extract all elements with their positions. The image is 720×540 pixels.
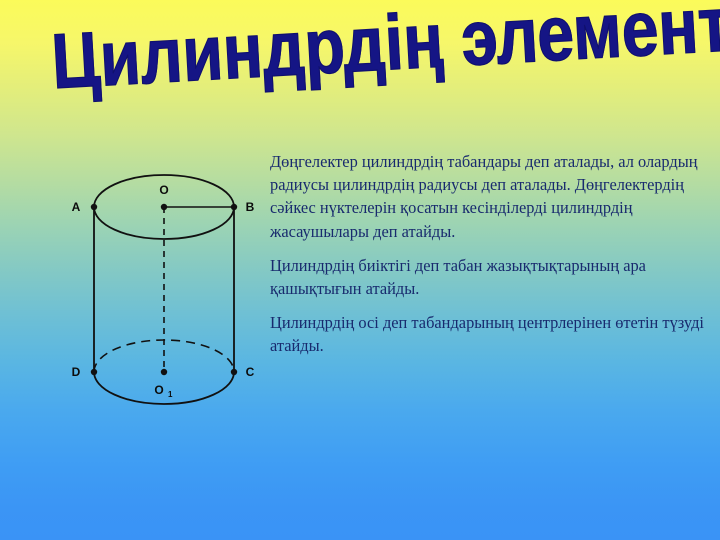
body-paragraph-1: Дөңгелектер цилиндрдің табандары деп ата…: [270, 150, 708, 243]
body-text-block: Дөңгелектер цилиндрдің табандары деп ата…: [270, 150, 708, 358]
page-title: Цилиндрдің элементтері: [49, 0, 673, 108]
point-d: [91, 369, 97, 375]
label-d: D: [72, 365, 81, 379]
label-b: B: [246, 200, 255, 214]
slide-canvas: Цилиндрдің элементтері: [0, 0, 720, 540]
label-o: O: [159, 183, 168, 197]
body-paragraph-2: Цилиндрдің биіктігі деп табан жазықтықта…: [270, 254, 708, 300]
point-b: [231, 204, 237, 210]
label-o1-subscript: 1: [168, 390, 173, 399]
bottom-base-visible-arc: [94, 372, 234, 404]
label-o1: O: [154, 383, 163, 397]
label-c: C: [246, 365, 255, 379]
point-a: [91, 204, 97, 210]
cylinder-svg: A B O D C O 1: [58, 163, 273, 413]
point-o: [161, 204, 167, 210]
slide-title-wordart: Цилиндрдің элементтері: [49, 0, 674, 120]
point-o1: [161, 369, 167, 375]
point-c: [231, 369, 237, 375]
cylinder-diagram: A B O D C O 1: [58, 163, 273, 413]
body-paragraph-3: Цилиндрдің осі деп табандарының центрлер…: [270, 311, 708, 357]
label-a: A: [72, 200, 81, 214]
